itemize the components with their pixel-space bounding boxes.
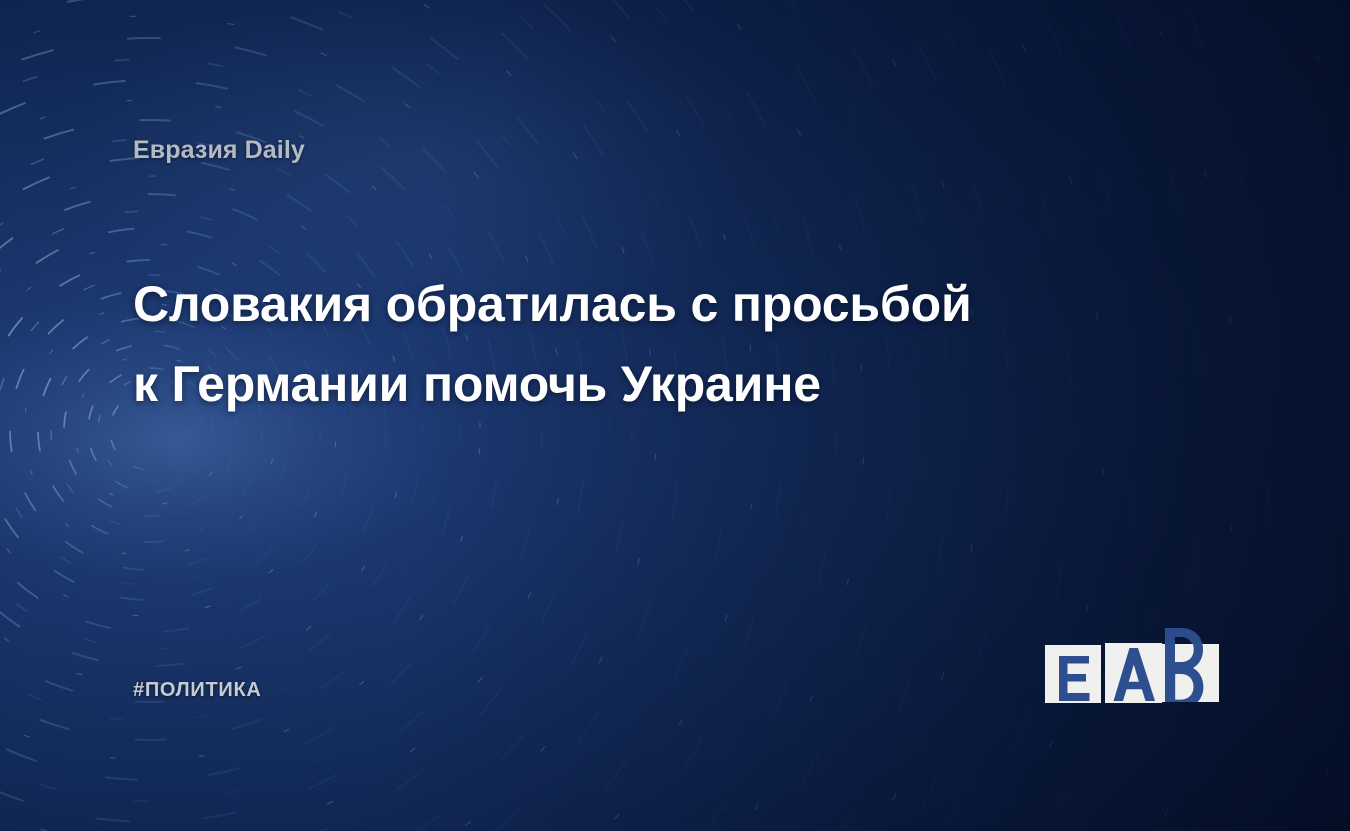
eadaily-logo[interactable] xyxy=(1045,622,1225,714)
social-share-card: Евразия Daily Словакия обратилась с прос… xyxy=(0,0,1350,831)
logo-tile-a xyxy=(1105,643,1162,703)
logo-tile-d xyxy=(1161,628,1219,709)
logo-tile-e xyxy=(1045,645,1101,703)
eadaily-logo-mark xyxy=(1045,622,1225,714)
headline-line-2: к Германии помочь Украине xyxy=(133,344,1093,424)
page-title: Словакия обратилась с просьбой к Германи… xyxy=(133,264,1093,424)
category-tag[interactable]: #ПОЛИТИКА xyxy=(133,679,262,702)
headline-line-1: Словакия обратилась с просьбой xyxy=(133,264,1093,344)
brand-name: Евразия Daily xyxy=(133,136,305,165)
